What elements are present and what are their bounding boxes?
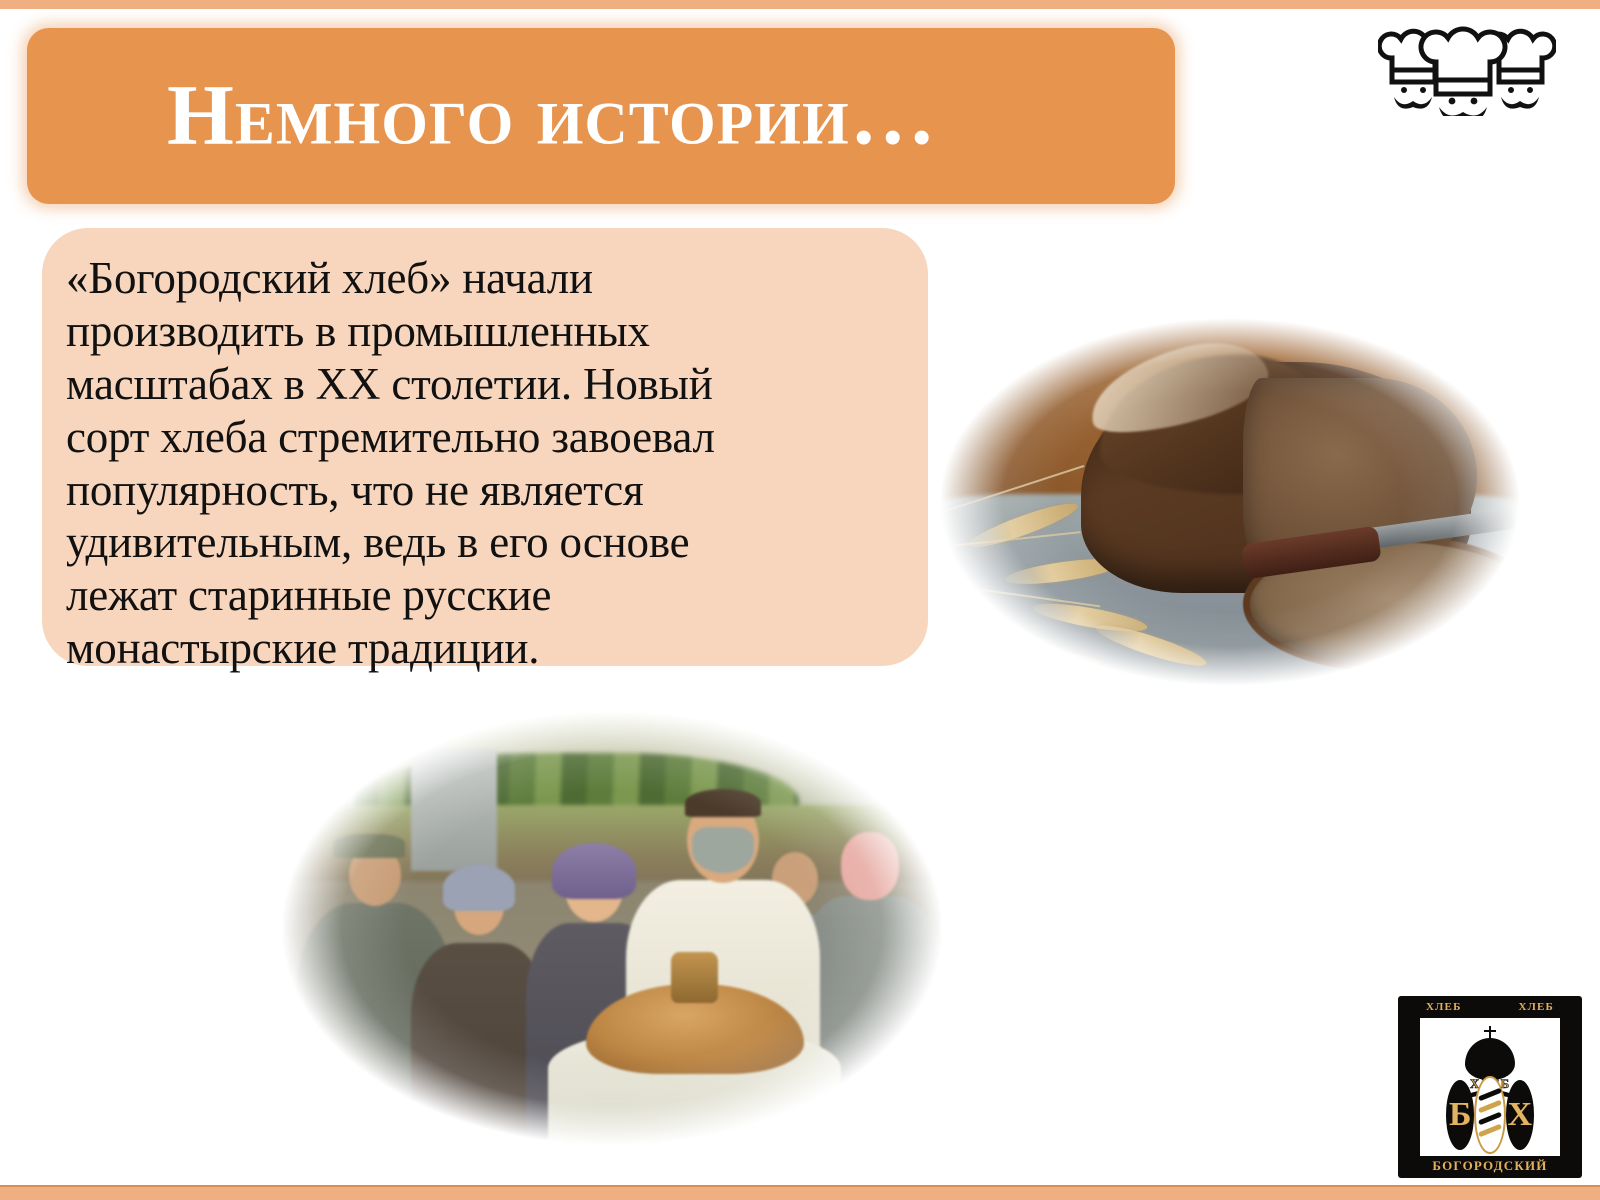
company-logo: ХЛЕБ ХЛЕБ БОГОРОДСКИЙ БОГОРОДСКИЙ ХЛЕБ Б… [1398, 996, 1582, 1178]
logo-letter-b: Б [1446, 1080, 1474, 1150]
page-title: Немного истории… [167, 71, 937, 157]
top-accent-strip [0, 0, 1600, 9]
bread-loaf-icon [1474, 1076, 1505, 1154]
history-paragraph: «Богородский хлеб» начали производить в … [66, 252, 894, 675]
logo-text-top-right: ХЛЕБ [1518, 1001, 1554, 1013]
history-text-card: «Богородский хлеб» начали производить в … [42, 228, 928, 666]
slide-title-banner: Немного истории… [27, 28, 1175, 204]
logo-text-top-left: ХЛЕБ [1426, 1001, 1462, 1013]
logo-text-bottom: БОГОРОДСКИЙ [1432, 1158, 1547, 1174]
bread-photo [905, 296, 1555, 708]
logo-letter-x: Х [1506, 1080, 1534, 1150]
bottom-accent-strip [0, 1187, 1600, 1200]
onion-dome-icon [1465, 1038, 1515, 1080]
bread-and-salt-painting [253, 692, 971, 1164]
chef-hats-icon [1378, 24, 1556, 116]
bread-and-salt-offering [576, 952, 813, 1075]
